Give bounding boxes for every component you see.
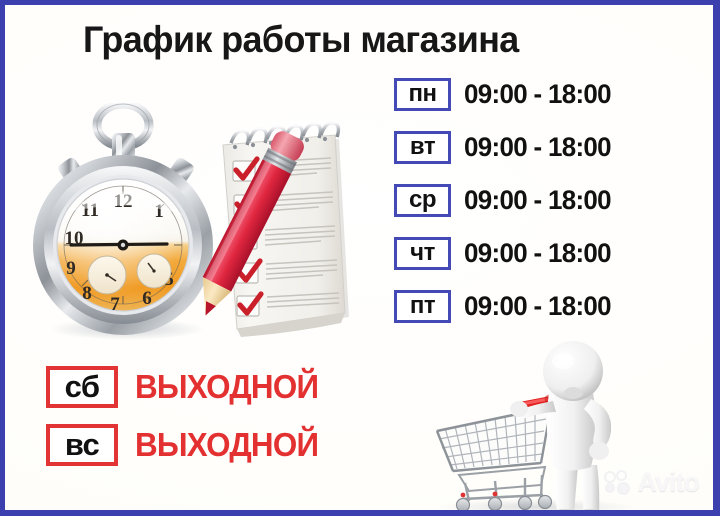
day-badge-vs: вс (46, 424, 118, 466)
svg-text:6: 6 (142, 288, 152, 309)
store-hours-poster: График работы магазина (0, 0, 720, 516)
page-title: График работы магазина (83, 19, 587, 61)
hours-value: 09:00 - 18:00 (464, 132, 611, 163)
avito-logo-icon (604, 470, 634, 496)
weekend-schedule-list: сб ВЫХОДНОЙ вс ВЫХОДНОЙ (46, 365, 328, 481)
poster-canvas: График работы магазина (5, 5, 713, 510)
dayoff-label: ВЫХОДНОЙ (135, 426, 318, 464)
weekday-schedule-list: пн 09:00 - 18:00 вт 09:00 - 18:00 ср 09:… (394, 77, 617, 342)
stopwatch-crown (97, 104, 149, 163)
schedule-row: пн 09:00 - 18:00 (394, 77, 617, 111)
hours-value: 09:00 - 18:00 (464, 291, 611, 322)
stopwatch-subdial-left (88, 256, 126, 294)
schedule-row: пт 09:00 - 18:00 (394, 289, 617, 323)
hours-value: 09:00 - 18:00 (464, 79, 611, 110)
avito-wordmark: Avito (638, 467, 700, 498)
weekend-row: сб ВЫХОДНОЙ (46, 365, 328, 408)
day-badge-sb: сб (46, 366, 118, 408)
avito-watermark: Avito (604, 467, 700, 498)
stopwatch-subdial-right (137, 254, 171, 288)
hours-value: 09:00 - 18:00 (464, 238, 611, 269)
day-badge-pn: пн (394, 78, 451, 111)
svg-text:7: 7 (110, 294, 120, 315)
svg-text:8: 8 (82, 283, 92, 304)
day-badge-cht: чт (394, 237, 451, 270)
hours-value: 09:00 - 18:00 (464, 185, 611, 216)
weekend-row: вс ВЫХОДНОЙ (46, 423, 328, 466)
schedule-row: чт 09:00 - 18:00 (394, 236, 617, 270)
dayoff-label: ВЫХОДНОЙ (135, 368, 318, 406)
day-badge-vt: вт (394, 131, 451, 164)
svg-text:9: 9 (66, 258, 76, 279)
day-badge-sr: ср (394, 184, 451, 217)
checklist-notepad-illustration (197, 117, 365, 345)
schedule-row: вт 09:00 - 18:00 (394, 130, 617, 164)
schedule-row: ср 09:00 - 18:00 (394, 183, 617, 217)
day-badge-pt: пт (394, 290, 451, 323)
